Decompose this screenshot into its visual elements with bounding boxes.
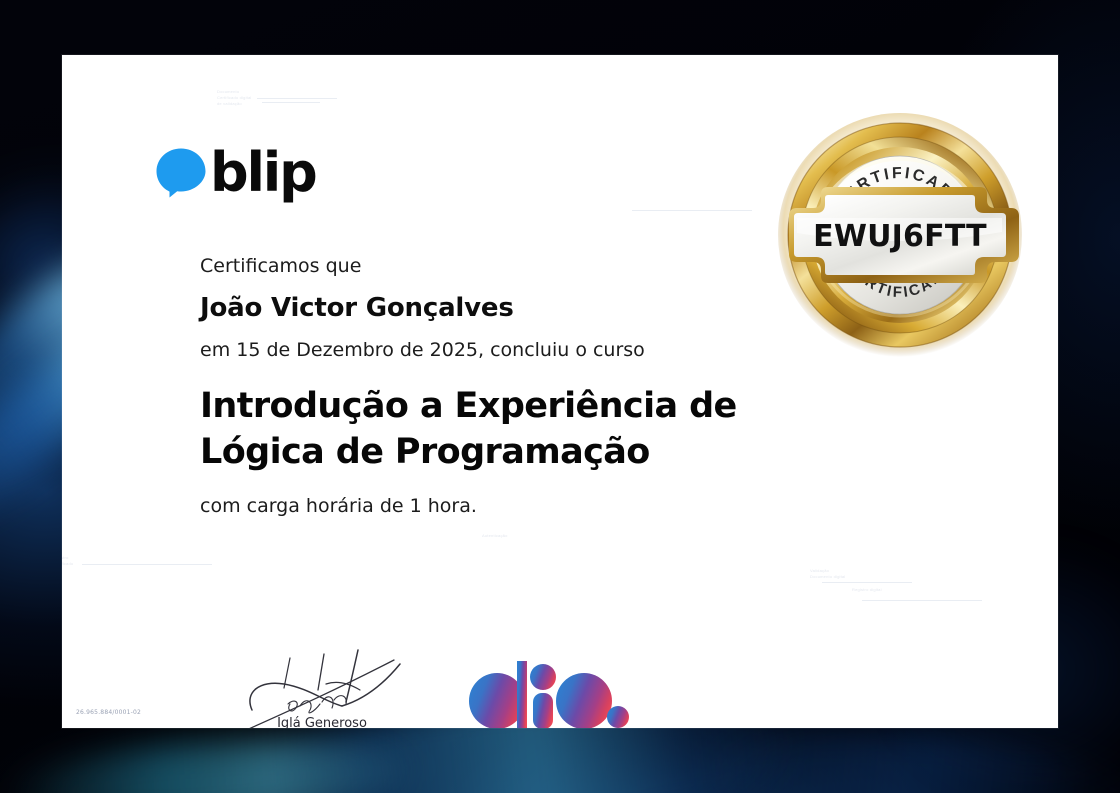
watermark-rule (632, 210, 752, 211)
blip-bubble-icon (155, 147, 207, 199)
watermark-fragment: Validação Documento digital (810, 568, 845, 580)
watermark-rule (822, 582, 912, 583)
course-title: Introdução a Experiência de Lógica de Pr… (200, 383, 850, 475)
seal-code-text: EWUJ6FTT (813, 219, 987, 254)
intro-line: Certificamos que (200, 255, 880, 277)
watermark-rule (257, 98, 337, 99)
certificate-body: Certificamos que João Victor Gonçalves e… (200, 255, 880, 517)
dio-logo-icon (457, 655, 629, 728)
watermark-fragment: Autenticação (482, 533, 508, 539)
screenshot-stage: Documento Certificado digital de validaç… (0, 0, 1120, 793)
blip-wordmark: blip (210, 147, 316, 199)
recipient-name: João Victor Gonçalves (200, 293, 880, 323)
watermark-rule (262, 102, 320, 103)
watermark-fragment: Documento Certificado digital de validaç… (217, 89, 251, 106)
watermark-fragment: Registro digital (852, 587, 882, 593)
signature-block: Iglá Generoso Chief Enterprise Officer D… (222, 640, 422, 728)
dio-partner-logo: CERTIFICATION PROGRAM (457, 655, 629, 728)
date-line: em 15 de Dezembro de 2025, concluiu o cu… (200, 339, 880, 361)
workload-line: com carga horária de 1 hora. (200, 495, 880, 517)
signatory-name: Iglá Generoso (222, 716, 422, 728)
certificate-card: Documento Certificado digital de validaç… (62, 55, 1058, 728)
watermark-rule (862, 600, 982, 601)
watermark-rule (82, 564, 212, 565)
watermark-fragment: Registro Certificado (62, 555, 73, 567)
blip-logo: blip (155, 147, 316, 199)
cnpj-footnote: 26.965.884/0001-02 (76, 709, 141, 716)
handwritten-signature-icon (222, 640, 422, 728)
